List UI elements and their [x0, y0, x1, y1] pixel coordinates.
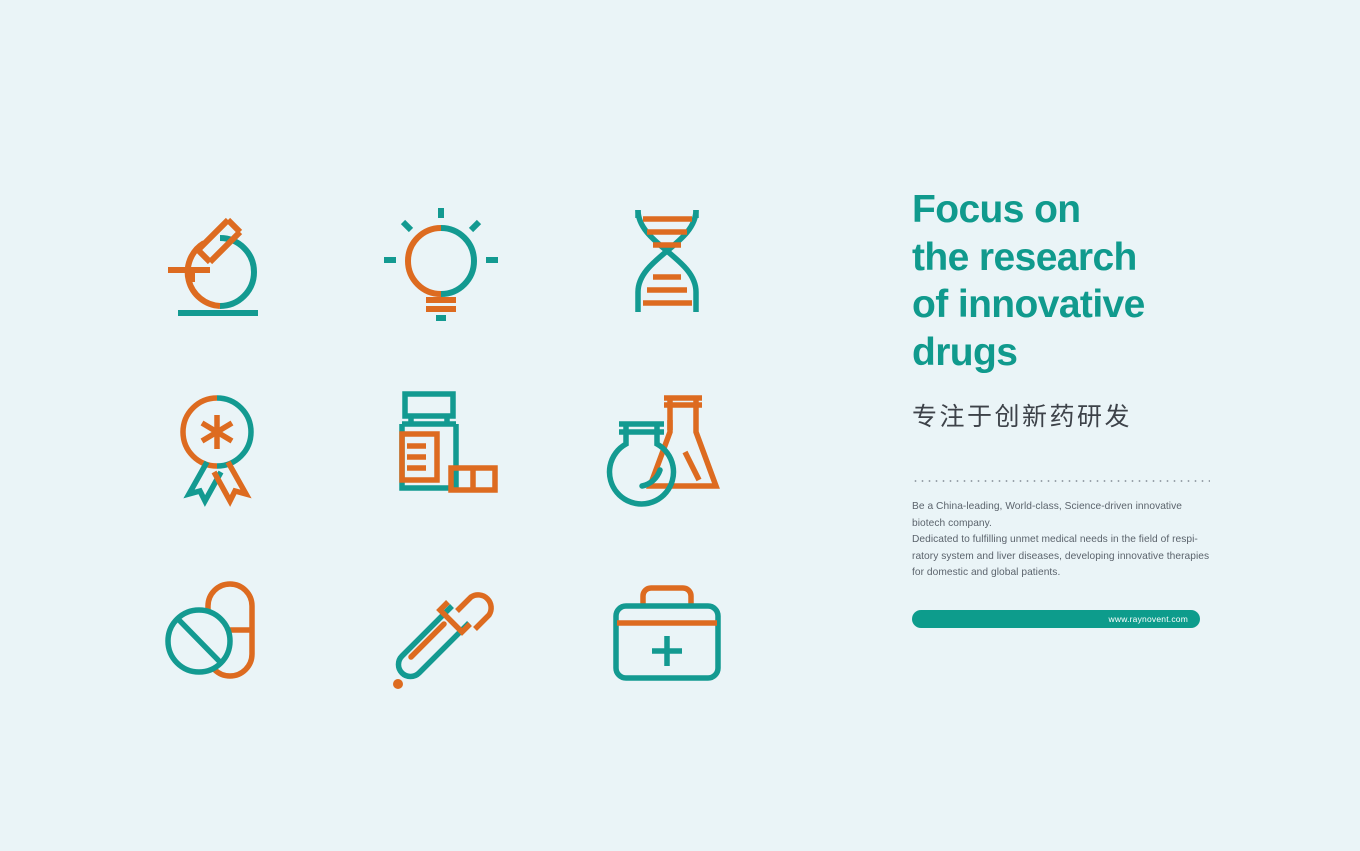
- text-column: Focus on the research of innovative drug…: [912, 186, 1212, 628]
- dna-helix-icon: [602, 196, 732, 326]
- icon-cell-dna: [596, 168, 820, 354]
- icon-cell-lightbulb: [372, 168, 596, 354]
- website-url-pill[interactable]: www.raynovent.com: [912, 610, 1200, 628]
- body-paragraph: Be a China-leading, World-class, Science…: [912, 499, 1212, 582]
- pills-capsule-icon: [154, 568, 284, 698]
- lightbulb-icon: [378, 196, 508, 326]
- pill-bottle-icon: [378, 382, 508, 512]
- lab-flasks-icon: [602, 382, 732, 512]
- dropper-pipette-icon: [378, 568, 508, 698]
- icon-cell-award: [148, 354, 372, 540]
- award-ribbon-icon: [154, 382, 284, 512]
- icon-grid: [148, 168, 768, 726]
- icon-cell-dropper: [372, 540, 596, 726]
- website-url-label: www.raynovent.com: [1109, 614, 1188, 624]
- subtitle-chinese: 专注于创新药研发: [912, 402, 1212, 432]
- page-title: Focus on the research of innovative drug…: [912, 186, 1212, 376]
- icon-cell-flasks: [596, 354, 820, 540]
- poster-page: Focus on the research of innovative drug…: [0, 0, 1360, 851]
- first-aid-kit-icon: [602, 568, 732, 698]
- icon-cell-microscope: [148, 168, 372, 354]
- icon-cell-first-aid: [596, 540, 820, 726]
- dotted-divider: [912, 480, 1210, 482]
- icon-cell-pills: [148, 540, 372, 726]
- icon-cell-pill-bottle: [372, 354, 596, 540]
- microscope-icon: [154, 196, 284, 326]
